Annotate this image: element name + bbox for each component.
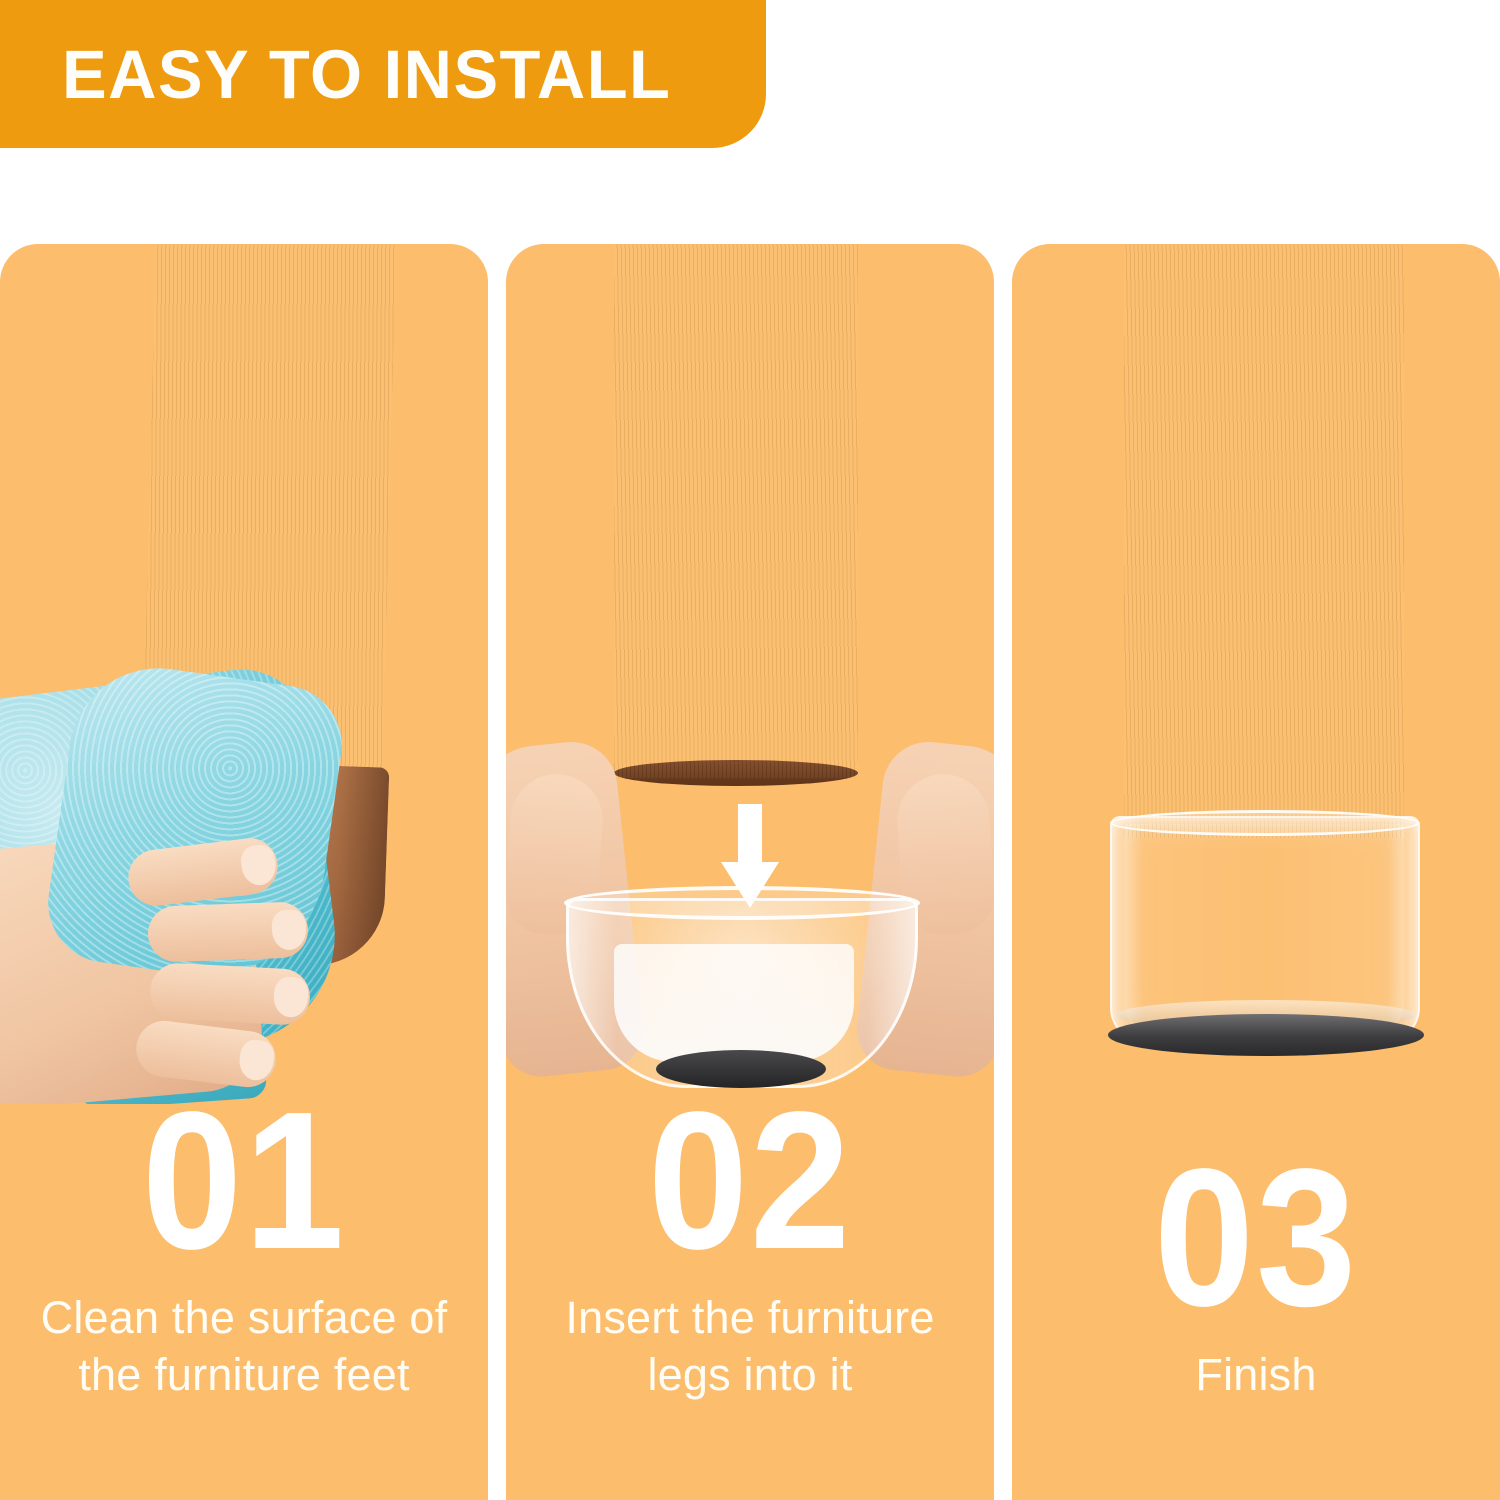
fingernail xyxy=(273,976,309,1018)
install-steps-row: 01 Clean the surface of the furniture fe… xyxy=(0,244,1500,1500)
step-number: 03 xyxy=(1054,1148,1459,1328)
step-01-caption-block: 01 Clean the surface of the furniture fe… xyxy=(0,1091,488,1405)
clear-cap-rim xyxy=(1110,810,1420,836)
step-description: Finish xyxy=(1036,1346,1476,1404)
step-01-illustration xyxy=(0,244,488,1104)
step-02-caption-block: 02 Insert the furniture legs into it xyxy=(506,1091,994,1405)
step-description: Clean the surface of the furniture feet xyxy=(24,1289,464,1404)
banner-title: EASY TO INSTALL xyxy=(62,40,671,109)
step-02-illustration xyxy=(506,244,994,1104)
step-number: 02 xyxy=(548,1091,953,1271)
easy-to-install-banner: EASY TO INSTALL xyxy=(0,0,766,148)
clear-cap-interior xyxy=(614,944,854,1062)
wooden-furniture-leg xyxy=(1124,244,1404,838)
step-panel-02: 02 Insert the furniture legs into it xyxy=(506,244,994,1500)
step-panel-03: 03 Finish xyxy=(1012,244,1500,1500)
wooden-furniture-leg xyxy=(614,244,858,778)
finger-ring xyxy=(149,962,312,1026)
step-description: Insert the furniture legs into it xyxy=(530,1289,970,1404)
fingernail xyxy=(239,843,278,887)
felt-pad xyxy=(1108,1014,1424,1056)
step-03-caption-block: 03 Finish xyxy=(1012,1148,1500,1404)
finger-middle xyxy=(147,901,309,963)
step-panel-01: 01 Clean the surface of the furniture fe… xyxy=(0,244,488,1500)
clear-cap-rim xyxy=(564,886,920,920)
step-03-illustration xyxy=(1012,244,1500,1104)
step-number: 01 xyxy=(42,1091,447,1271)
fingernail xyxy=(271,909,306,950)
